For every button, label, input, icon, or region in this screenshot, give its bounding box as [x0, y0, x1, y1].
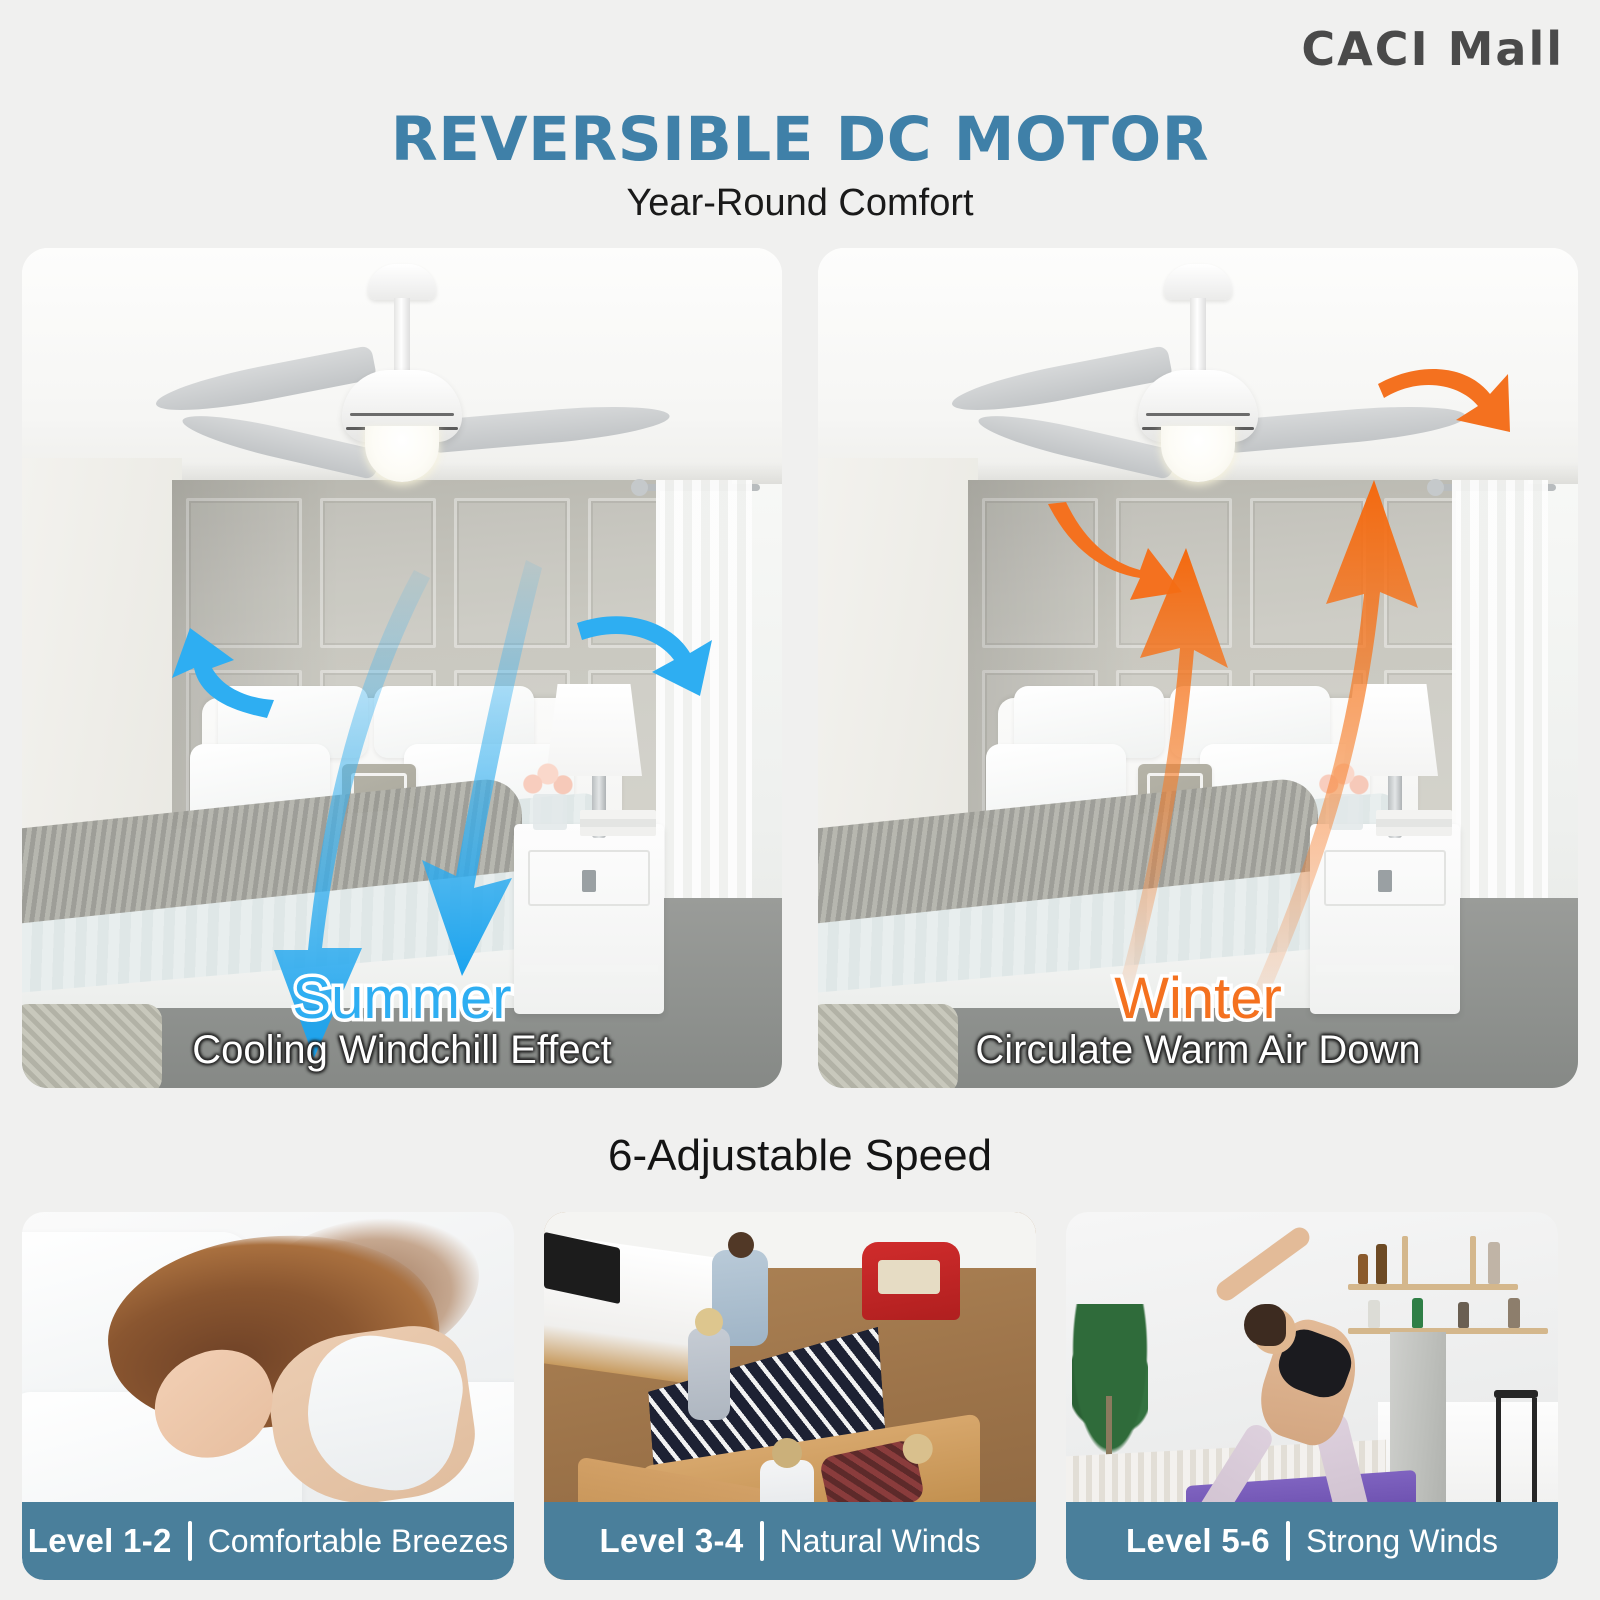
product-infographic: CACI Mall REVERSIBLE DC MOTOR Year-Round… [0, 0, 1600, 1600]
page-title: REVERSIBLE DC MOTOR [0, 104, 1600, 175]
rotation-arrow-right [1378, 369, 1510, 432]
speed-card-level-3-4[interactable]: Level 3-4 Natural Winds [544, 1212, 1036, 1580]
speed-card-level-5-6[interactable]: Level 5-6 Strong Winds [1066, 1212, 1558, 1580]
airflow-arrow [1118, 548, 1228, 996]
summer-panel: Summer Cooling Windchill Effect [22, 248, 782, 1088]
speed-section-heading: 6-Adjustable Speed [0, 1131, 1600, 1181]
airflow-arrow [1248, 480, 1418, 1010]
speed-card-label-bar: Level 5-6 Strong Winds [1066, 1502, 1558, 1580]
rotation-arrow-right [577, 616, 712, 696]
speed-level-label: Level 3-4 [600, 1522, 744, 1560]
speed-level-description: Strong Winds [1306, 1523, 1498, 1560]
speed-card-label-bar: Level 3-4 Natural Winds [544, 1502, 1036, 1580]
season-name: Winter [818, 969, 1578, 1028]
airflow-arrow [422, 560, 542, 976]
winter-panel: Winter Circulate Warm Air Down [818, 248, 1578, 1088]
rotation-arrow-left [172, 628, 274, 718]
season-caption: Circulate Warm Air Down [818, 1028, 1578, 1072]
speed-level-cards: Level 1-2 Comfortable Breezes [22, 1212, 1578, 1580]
season-caption: Cooling Windchill Effect [22, 1028, 782, 1072]
speed-level-description: Comfortable Breezes [208, 1523, 509, 1560]
brand-logo: CACI Mall [1301, 22, 1564, 76]
winter-airflow-arrows [818, 248, 1578, 1088]
page-subtitle: Year-Round Comfort [0, 182, 1600, 225]
season-panels: Summer Cooling Windchill Effect [22, 248, 1578, 1088]
label-divider [760, 1521, 764, 1561]
speed-card-level-1-2[interactable]: Level 1-2 Comfortable Breezes [22, 1212, 514, 1580]
winter-caption-group: Winter Circulate Warm Air Down [818, 969, 1578, 1072]
speed-level-label: Level 1-2 [28, 1522, 172, 1560]
summer-airflow-arrows [22, 248, 782, 1088]
summer-caption-group: Summer Cooling Windchill Effect [22, 969, 782, 1072]
rotation-arrow-left [1048, 502, 1182, 600]
speed-card-label-bar: Level 1-2 Comfortable Breezes [22, 1502, 514, 1580]
label-divider [1286, 1521, 1290, 1561]
label-divider [188, 1521, 192, 1561]
speed-level-description: Natural Winds [780, 1523, 981, 1560]
season-name: Summer [22, 969, 782, 1028]
speed-level-label: Level 5-6 [1126, 1522, 1270, 1560]
